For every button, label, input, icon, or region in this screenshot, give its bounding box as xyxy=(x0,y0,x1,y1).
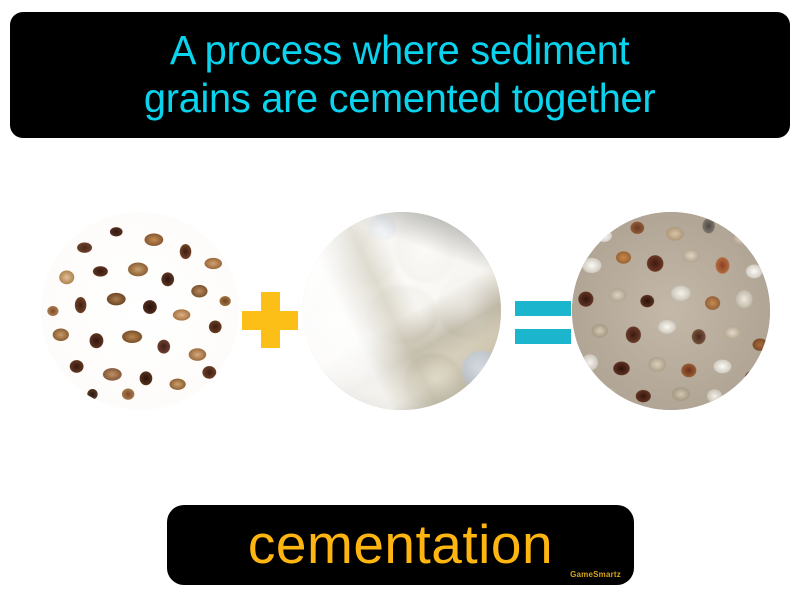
term-badge: cementation GameSmartz xyxy=(167,505,634,585)
sediment-grains-image xyxy=(41,212,239,410)
term-text: cementation xyxy=(248,517,553,572)
plus-operator-icon xyxy=(242,292,298,348)
plus-vertical-bar xyxy=(261,292,280,348)
mineral-cement-image xyxy=(303,212,501,410)
mineral-cement-texture xyxy=(303,212,501,410)
equals-top-bar xyxy=(515,301,571,316)
sandstone-result-image xyxy=(572,212,770,410)
equals-bottom-bar xyxy=(515,329,571,344)
sediment-grains-texture xyxy=(41,212,239,410)
definition-banner: A process where sediment grains are ceme… xyxy=(10,12,790,138)
equals-operator-icon xyxy=(515,301,571,344)
equation-row xyxy=(0,200,800,430)
watermark-label: GameSmartz xyxy=(570,570,621,579)
sandstone-result-texture xyxy=(572,212,770,410)
definition-text: A process where sediment grains are ceme… xyxy=(131,27,670,123)
